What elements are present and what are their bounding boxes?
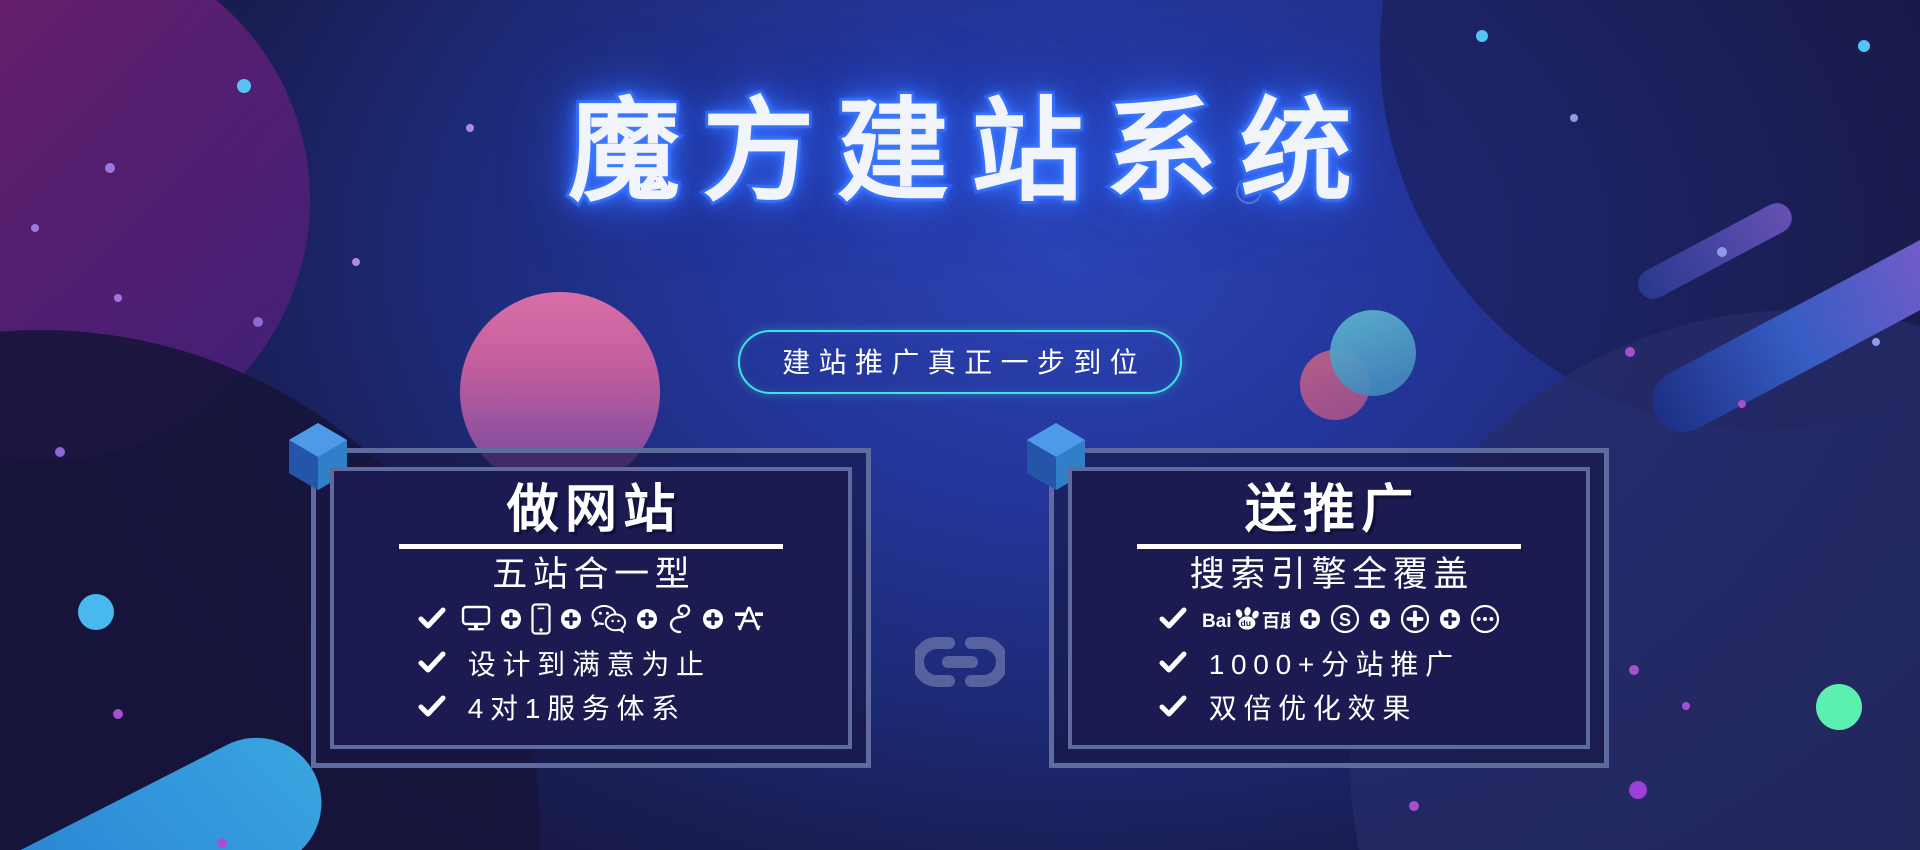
app-store-icon <box>733 604 765 634</box>
panel-free-promotion-rule <box>1137 544 1521 549</box>
check-icon <box>417 604 447 634</box>
mini-program-icon <box>667 604 693 634</box>
decor-dot <box>253 317 263 327</box>
decor-dot <box>1738 400 1746 408</box>
decor-dot <box>31 224 39 232</box>
decor-streak-violet-small <box>1633 198 1797 304</box>
plus-circle-icon <box>1369 608 1391 630</box>
chain-link-icon <box>915 635 1005 689</box>
svg-text:百度: 百度 <box>1262 610 1290 631</box>
check-icon <box>417 648 447 678</box>
panel-make-website-features: 设计到满意为止 4对1服务体系 <box>417 600 765 726</box>
sogou-logo-icon: S <box>1330 604 1360 634</box>
check-icon <box>1158 604 1188 634</box>
decor-dot <box>237 79 251 93</box>
feature-row-icons <box>417 600 765 638</box>
plus-circle-icon <box>702 608 724 630</box>
subtitle-pill: 建站推广真正一步到位 <box>738 330 1182 394</box>
decor-dot <box>1409 801 1419 811</box>
360-search-icon <box>1400 604 1430 634</box>
decor-dot <box>352 258 360 266</box>
wechat-icon <box>591 604 627 634</box>
feature-label: 1000+分站推广 <box>1202 643 1460 683</box>
panel-free-promotion-body: 送推广 搜索引擎全覆盖 Bai <box>1068 467 1590 749</box>
panel-row: 做网站 五站合一型 <box>0 448 1920 768</box>
desktop-monitor-icon <box>461 605 491 633</box>
platform-icon-row <box>461 603 765 635</box>
panel-free-promotion-features: Bai du 百度 <box>1158 600 1500 726</box>
feature-label: 4对1服务体系 <box>461 687 686 727</box>
check-icon <box>417 692 447 722</box>
plus-circle-icon <box>560 608 582 630</box>
panel-make-website-rule <box>399 544 783 549</box>
baidu-logo-icon: Bai du 百度 <box>1202 606 1290 632</box>
smartphone-icon <box>531 603 551 635</box>
panel-make-website-title: 做网站 <box>501 483 682 538</box>
panel-make-website-body: 做网站 五站合一型 <box>330 467 852 749</box>
feature-label: 双倍优化效果 <box>1202 687 1417 727</box>
svg-text:du: du <box>1241 618 1251 628</box>
promotional-banner: 魔方建站系统 建站推广真正一步到位 做网站 五站合一型 <box>0 0 1920 850</box>
search-engine-icon-row: Bai du 百度 <box>1202 604 1500 634</box>
decor-dot <box>1476 30 1488 42</box>
decor-dot <box>1717 247 1727 257</box>
check-icon <box>1158 692 1188 722</box>
feature-row-text: 4对1服务体系 <box>417 688 765 726</box>
main-title: 魔方建站系统 <box>546 96 1375 208</box>
plus-circle-icon <box>1299 608 1321 630</box>
more-ellipsis-icon <box>1470 604 1500 634</box>
svg-text:S: S <box>1339 610 1351 630</box>
decor-dot <box>114 294 122 302</box>
plus-circle-icon <box>1439 608 1461 630</box>
subtitle-area: 建站推广真正一步到位 <box>0 330 1920 394</box>
panel-free-promotion[interactable]: 送推广 搜索引擎全覆盖 Bai <box>1049 448 1609 768</box>
panel-free-promotion-subtitle: 搜索引擎全覆盖 <box>1184 553 1474 597</box>
decor-dot <box>217 838 227 848</box>
plus-circle-icon <box>500 608 522 630</box>
feature-row-text: 1000+分站推广 <box>1158 644 1500 682</box>
decor-dot <box>1858 40 1870 52</box>
panel-free-promotion-title: 送推广 <box>1239 483 1420 538</box>
svg-text:Bai: Bai <box>1202 611 1232 632</box>
feature-row-icons: Bai du 百度 <box>1158 600 1500 638</box>
panel-make-website[interactable]: 做网站 五站合一型 <box>311 448 871 768</box>
feature-row-text: 双倍优化效果 <box>1158 688 1500 726</box>
panel-make-website-subtitle: 五站合一型 <box>487 553 696 597</box>
feature-label: 设计到满意为止 <box>461 643 711 683</box>
decor-dot <box>1629 781 1647 799</box>
plus-circle-icon <box>636 608 658 630</box>
title-area: 魔方建站系统 <box>0 96 1920 208</box>
check-icon <box>1158 648 1188 678</box>
feature-row-text: 设计到满意为止 <box>417 644 765 682</box>
